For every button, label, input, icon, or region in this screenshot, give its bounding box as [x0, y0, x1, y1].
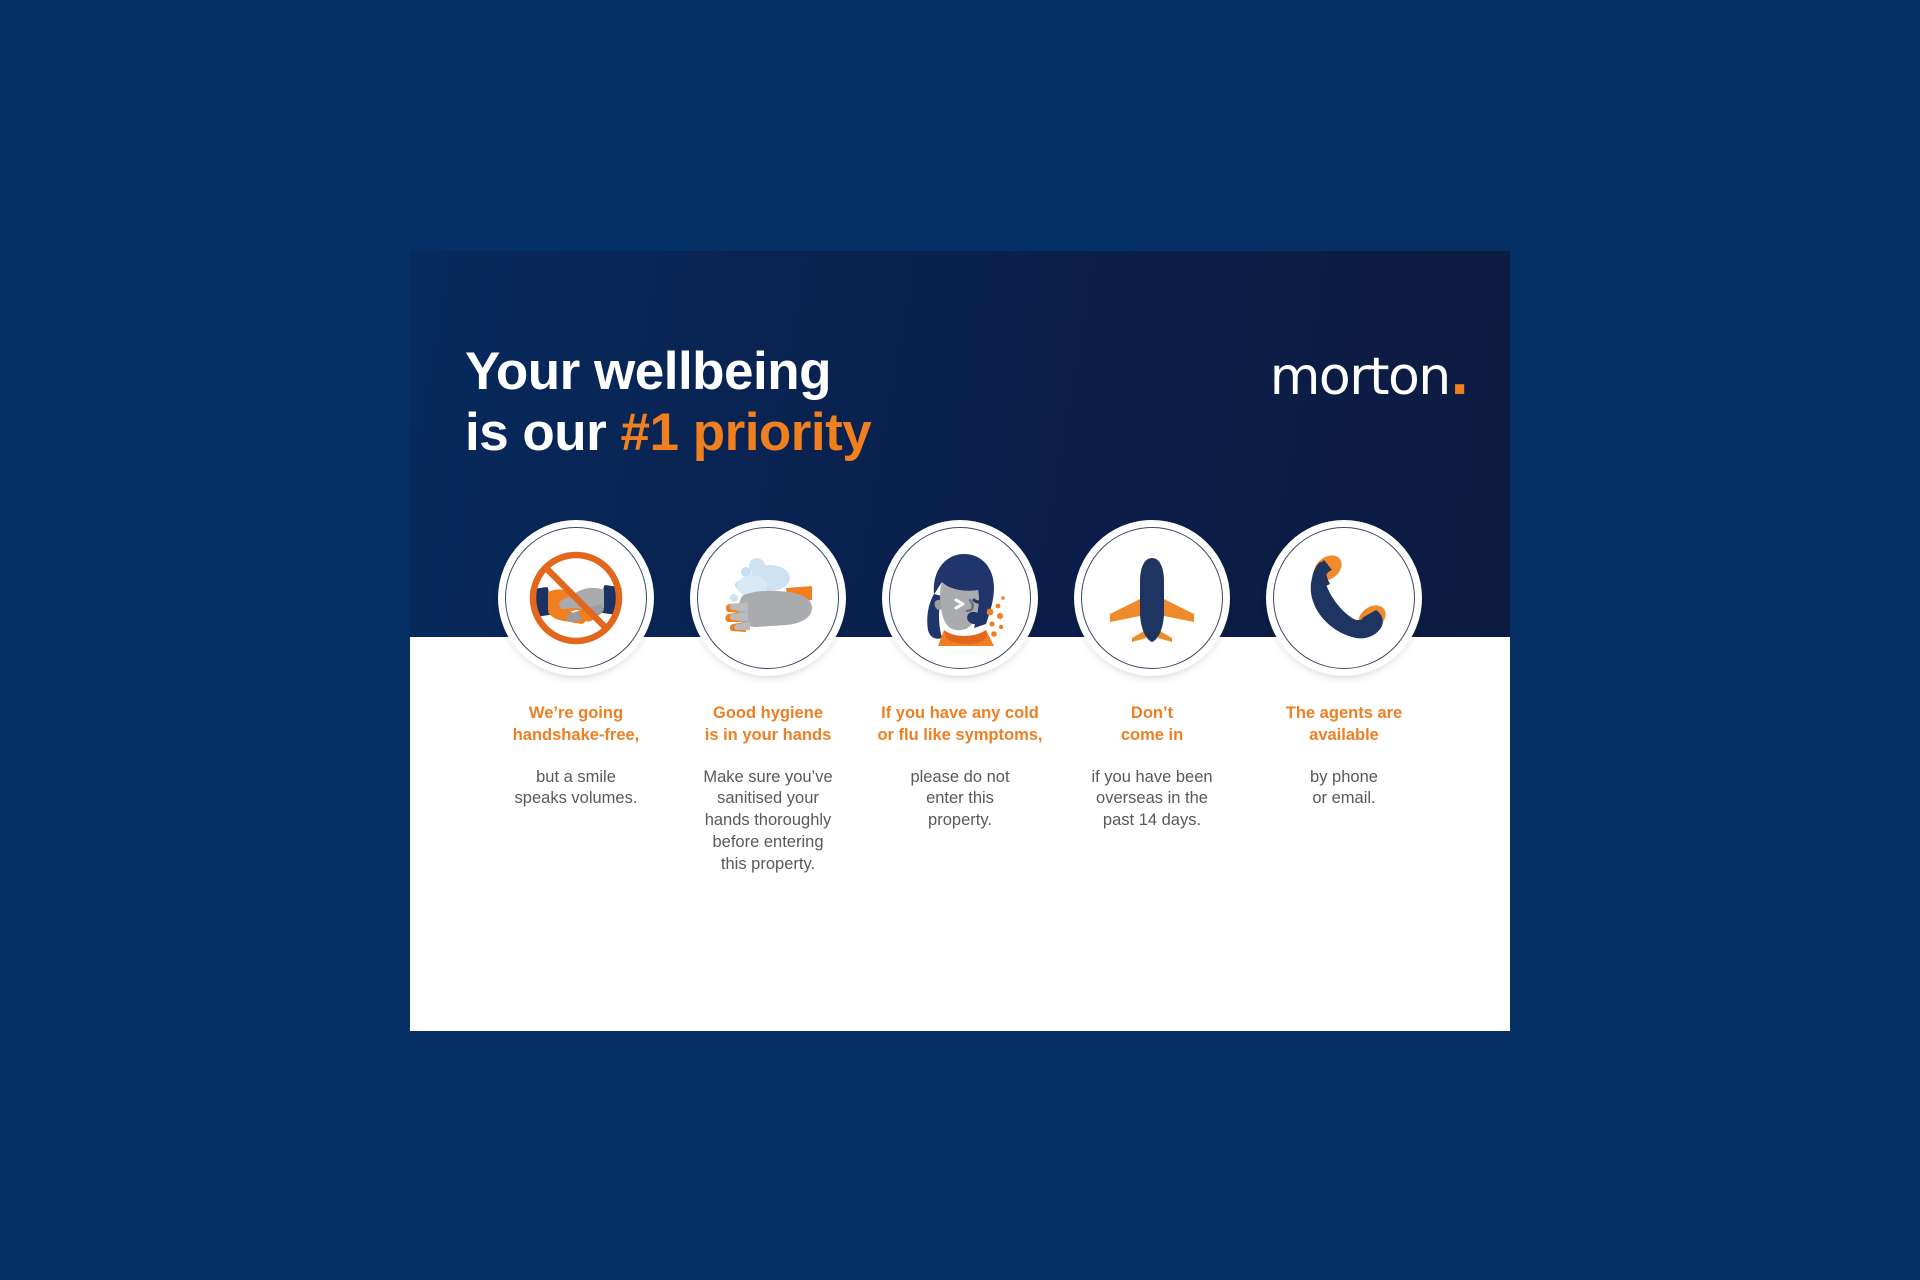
headline-line-1: Your wellbeing: [465, 341, 871, 402]
advice-body: but a smile speaks volumes.: [515, 767, 638, 811]
advice-heading-line-2: is in your hands: [705, 726, 832, 744]
advice-heading: If you have any cold or flu like symptom…: [877, 703, 1042, 747]
advice-heading: Don’t come in: [1121, 703, 1183, 747]
page-title: Your wellbeing is our #1 priority: [465, 341, 871, 464]
headline-line-2: is our #1 priority: [465, 402, 871, 463]
sneezing-person-icon: [889, 527, 1031, 669]
advice-heading-line-1: The agents are: [1286, 704, 1402, 722]
telephone-handset-icon: [1273, 527, 1415, 669]
morton-logo: morton.: [1270, 351, 1468, 403]
advice-heading-line-2: or flu like symptoms,: [877, 726, 1042, 744]
advice-body-line-1: please do not: [910, 768, 1009, 786]
advice-column-hygiene: Good hygiene is in your hands Make sure …: [678, 527, 858, 876]
advice-heading-line-2: come in: [1121, 726, 1183, 744]
advice-body-line-5: this property.: [721, 855, 815, 873]
headline-line-2-plain: is our: [465, 403, 621, 462]
advice-heading-line-1: Good hygiene: [713, 704, 823, 722]
advice-body: Make sure you’ve sanitised your hands th…: [703, 767, 832, 877]
logo-dot: .: [1450, 347, 1468, 407]
advice-body-line-2: or email.: [1312, 789, 1375, 807]
advice-body-line-3: past 14 days.: [1103, 811, 1201, 829]
no-handshake-icon: [505, 527, 647, 669]
advice-heading: Good hygiene is in your hands: [705, 703, 832, 747]
advice-body-line-2: enter this: [926, 789, 994, 807]
advice-body-line-2: overseas in the: [1096, 789, 1208, 807]
advice-column-symptoms: If you have any cold or flu like symptom…: [870, 527, 1050, 832]
advice-heading: The agents are available: [1286, 703, 1402, 747]
advice-body-line-1: Make sure you’ve: [703, 768, 832, 786]
headline-line-2-accent: #1 priority: [621, 403, 872, 462]
poster-card: Your wellbeing is our #1 priority morton…: [410, 251, 1510, 1031]
advice-heading: We’re going handshake-free,: [513, 703, 640, 747]
advice-body-line-1: if you have been: [1091, 768, 1212, 786]
advice-column-travel: Don’t come in if you have been overseas …: [1062, 527, 1242, 832]
advice-heading-line-1: Don’t: [1131, 704, 1173, 722]
advice-heading-line-2: handshake-free,: [513, 726, 640, 744]
advice-body-line-1: but a smile: [536, 768, 616, 786]
advice-body: please do not enter this property.: [910, 767, 1009, 833]
advice-body: if you have been overseas in the past 14…: [1091, 767, 1212, 833]
advice-column-handshake: We’re going handshake-free, but a smile …: [486, 527, 666, 810]
poster-canvas: Your wellbeing is our #1 priority morton…: [0, 0, 1920, 1280]
advice-column-contact: The agents are available by phone or ema…: [1254, 527, 1434, 810]
advice-body-line-3: property.: [928, 811, 992, 829]
advice-body-line-1: by phone: [1310, 768, 1378, 786]
advice-body-line-2: speaks volumes.: [515, 789, 638, 807]
advice-body-line-4: before entering: [713, 833, 824, 851]
advice-columns: We’re going handshake-free, but a smile …: [410, 527, 1510, 876]
advice-heading-line-2: available: [1309, 726, 1379, 744]
advice-heading-line-1: We’re going: [529, 704, 623, 722]
hand-washing-icon: [697, 527, 839, 669]
advice-body: by phone or email.: [1310, 767, 1378, 811]
logo-wordmark: morton: [1270, 347, 1450, 407]
airplane-icon: [1081, 527, 1223, 669]
advice-heading-line-1: If you have any cold: [881, 704, 1039, 722]
advice-body-line-2: sanitised your: [717, 789, 819, 807]
advice-body-line-3: hands thoroughly: [705, 811, 832, 829]
